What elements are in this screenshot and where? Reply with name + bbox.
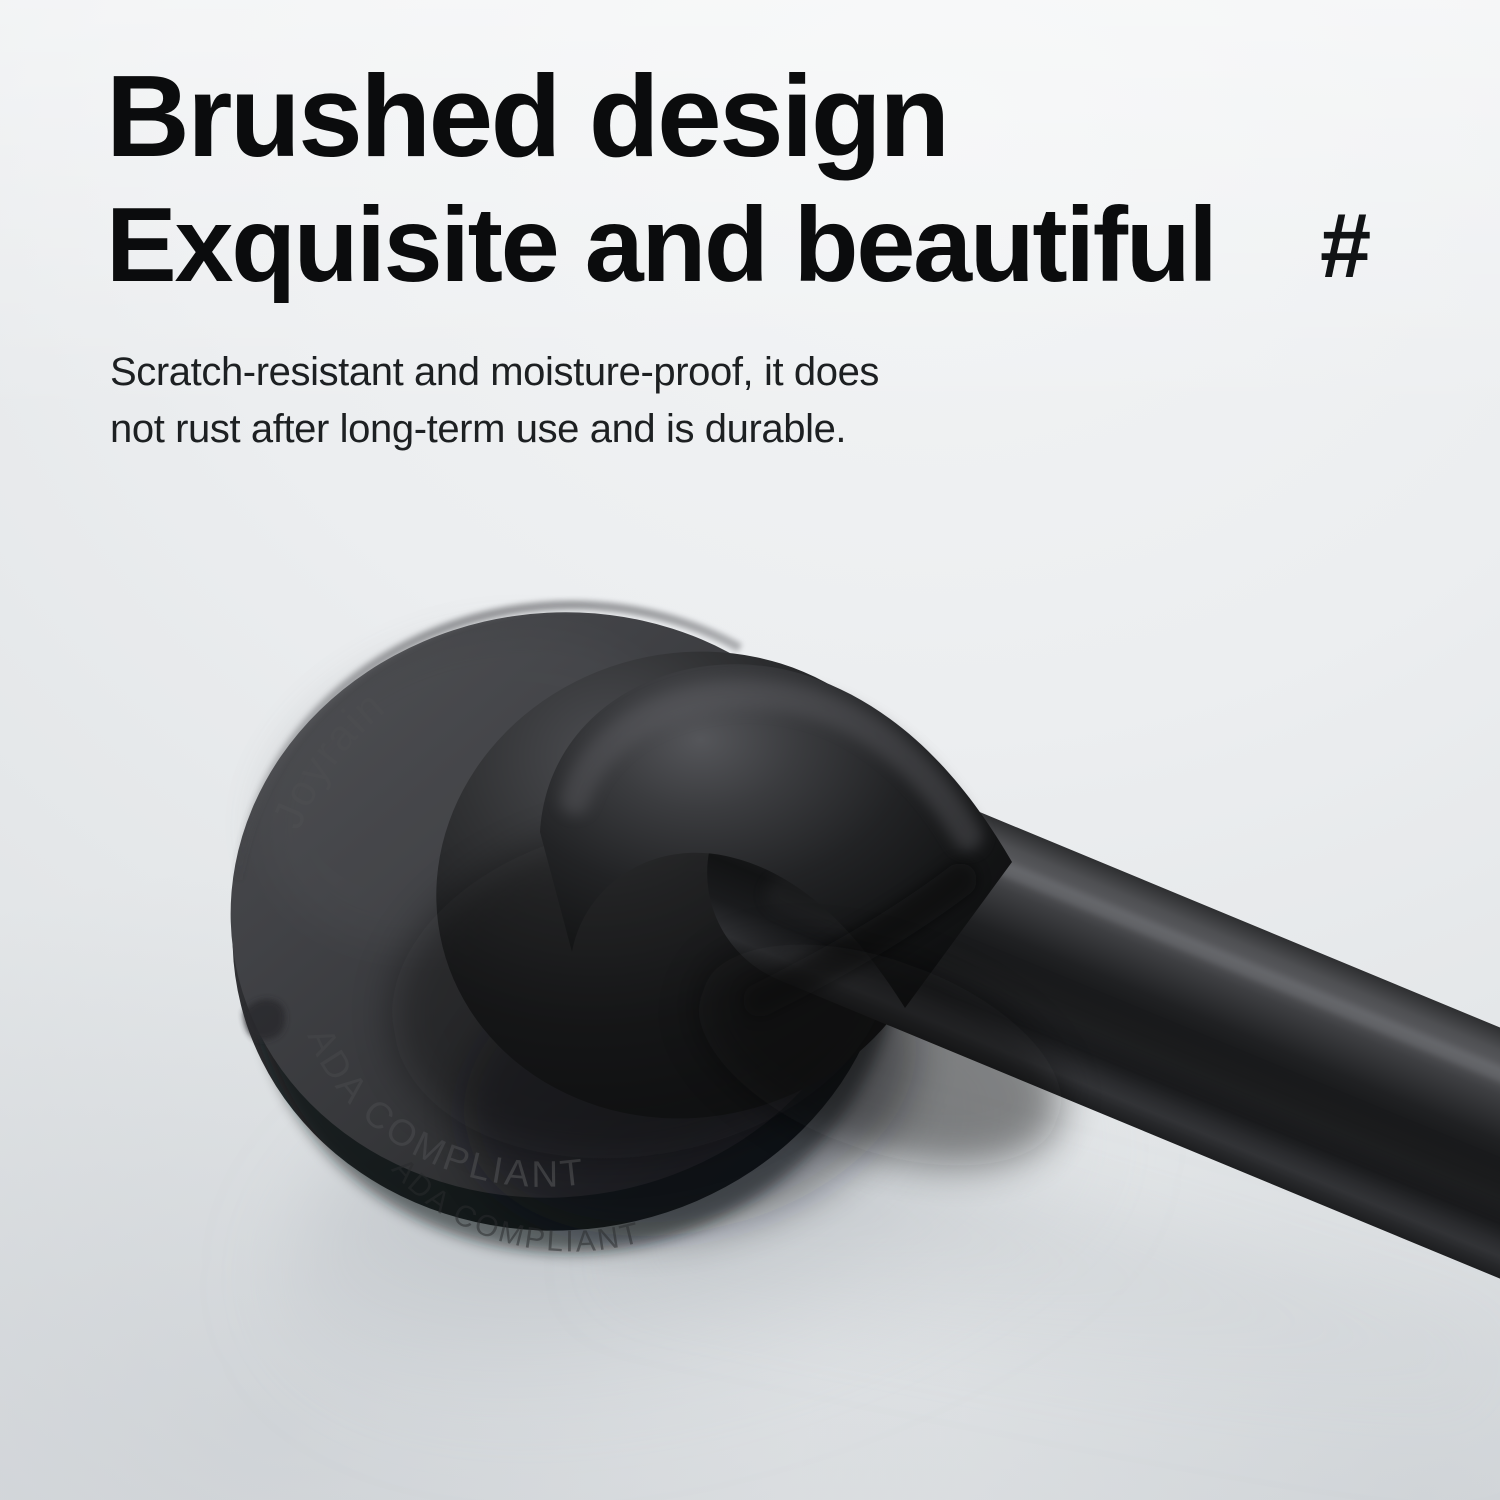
hash-mark-icon: # [1320,200,1369,292]
body-copy-line-2: not rust after long-term use and is dura… [110,401,1110,458]
product-marketing-banner: Joyrain ADA COMPLIANT ADA COMPLIANT [0,0,1500,1500]
headline-primary: Brushed design [106,58,1226,174]
body-copy-line-1: Scratch-resistant and moisture-proof, it… [110,344,1110,401]
body-copy: Scratch-resistant and moisture-proof, it… [110,344,1110,458]
headline-secondary: Exquisite and beautiful [106,192,1226,298]
marketing-copy-block: Brushed design Exquisite and beautiful S… [106,58,1226,458]
